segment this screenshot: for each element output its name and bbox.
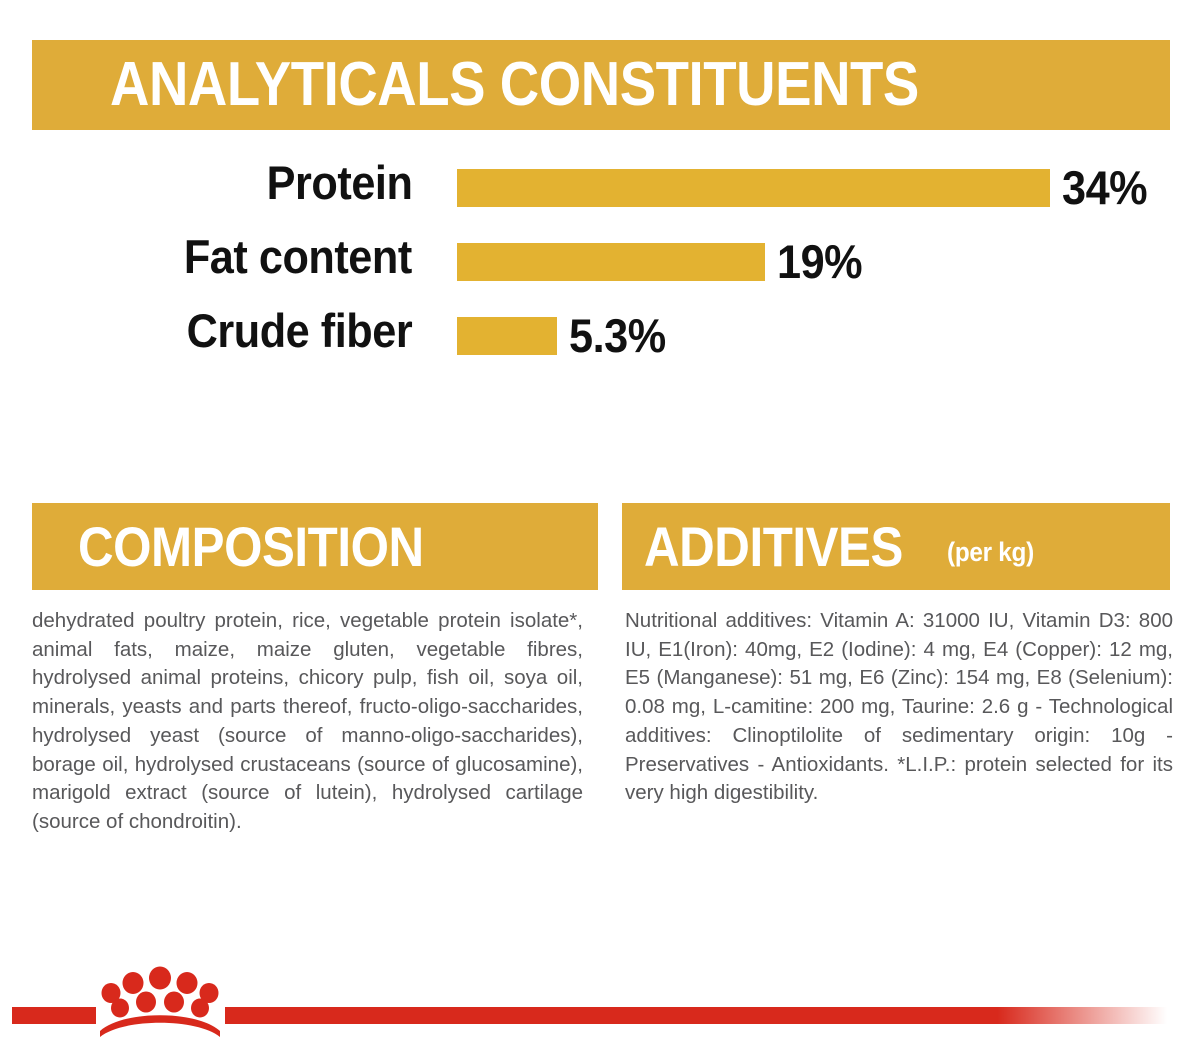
page-title: ANALYTICALS CONSTITUENTS (110, 54, 919, 116)
footer-rule-right (225, 1007, 1167, 1024)
bar-fill (457, 169, 1050, 207)
chart-row: Crude fiber 5.3% (0, 306, 1200, 380)
bar-group: 5.3% (457, 317, 674, 355)
chart-row: Fat content 19% (0, 232, 1200, 306)
additives-subheading: (per kg) (947, 537, 1034, 568)
footer (0, 960, 1200, 1059)
composition-banner: COMPOSITION (32, 503, 598, 590)
bar-group: 19% (457, 243, 870, 281)
additives-heading: ADDITIVES (644, 519, 903, 575)
footer-rule-left (12, 1007, 96, 1024)
bar-group: 34% (457, 169, 1155, 207)
additives-body-text: Nutritional additives: Vitamin A: 31000 … (625, 607, 1173, 808)
bar-category-label: Protein (266, 158, 412, 208)
analyticals-bar-chart: Protein 34% Fat content 19% Crude fiber … (0, 158, 1200, 380)
bar-fill (457, 243, 765, 281)
bar-category-label: Crude fiber (186, 306, 412, 356)
bar-value-label: 34% (1062, 169, 1147, 207)
bar-fill (457, 317, 557, 355)
composition-body-text: dehydrated poultry protein, rice, vegeta… (32, 607, 583, 837)
chart-row: Protein 34% (0, 158, 1200, 232)
analyticals-constituents-banner: ANALYTICALS CONSTITUENTS (32, 40, 1170, 130)
royal-canin-crown-icon (95, 965, 225, 1037)
composition-heading: COMPOSITION (78, 519, 424, 575)
bar-value-label: 19% (777, 243, 862, 281)
bar-value-label: 5.3% (569, 317, 666, 355)
additives-banner: ADDITIVES (per kg) (622, 503, 1170, 590)
bar-category-label: Fat content (184, 232, 412, 282)
